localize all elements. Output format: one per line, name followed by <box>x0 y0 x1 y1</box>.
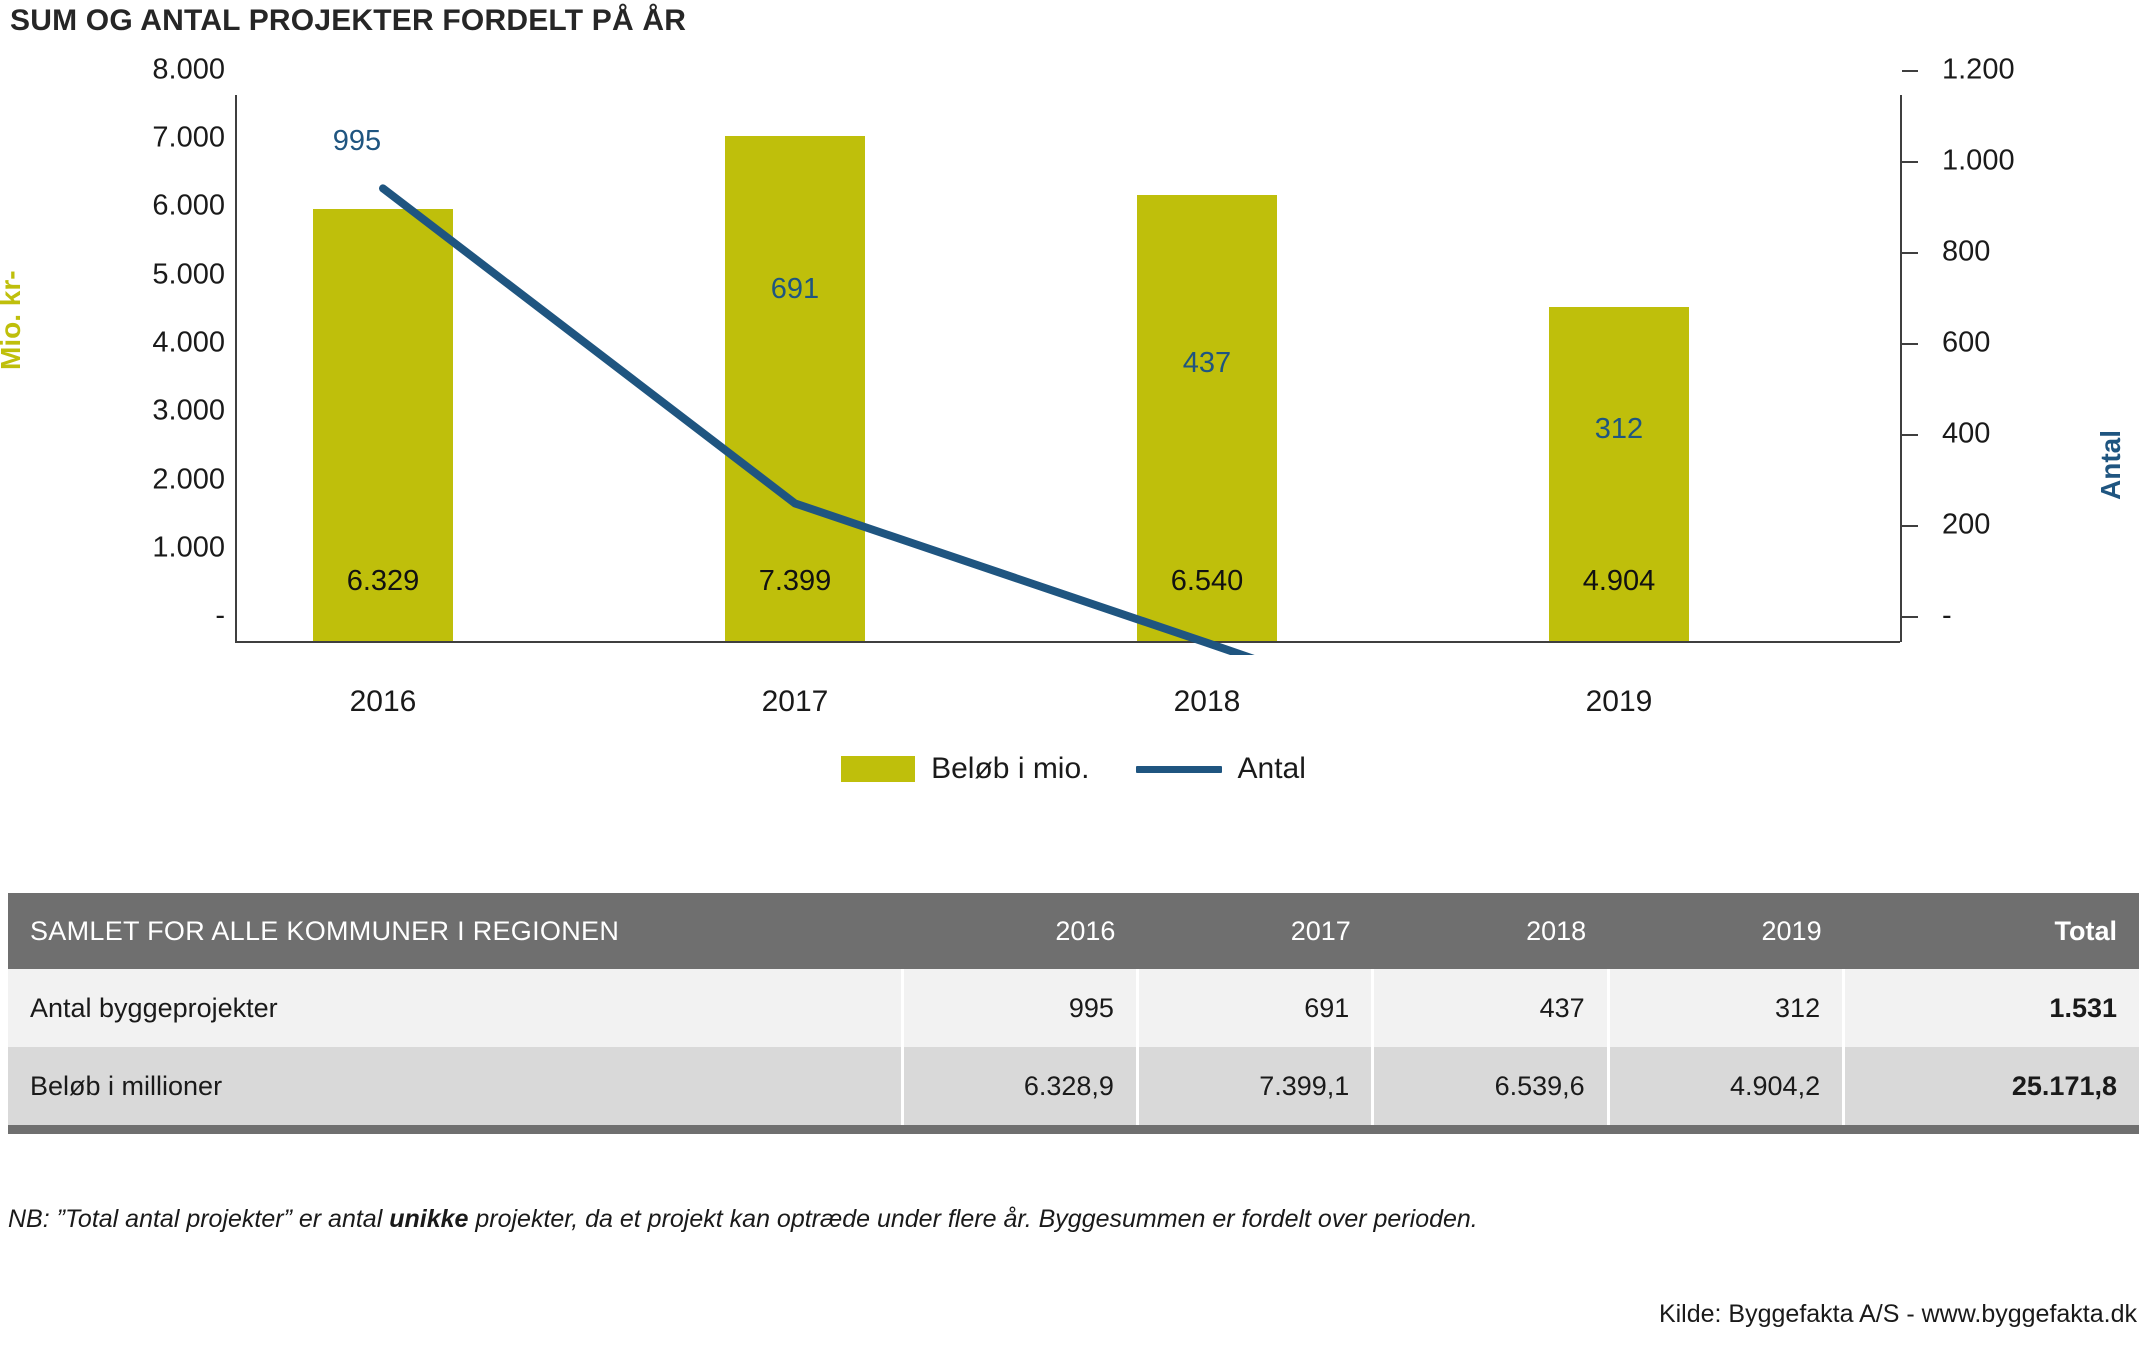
table-header-2019: 2019 <box>1608 893 1843 969</box>
table-header-2017: 2017 <box>1137 893 1372 969</box>
row-label-belob-i-millioner: Beløb i millioner <box>8 1047 902 1125</box>
cell-belob-2016: 6.328,9 <box>902 1047 1137 1125</box>
source-credit: Kilde: Byggefakta A/S - www.byggefakta.d… <box>1659 1300 2137 1329</box>
y-axis-left-label: Mio. kr- <box>0 270 27 370</box>
cell-antal-total: 1.531 <box>1844 969 2139 1047</box>
legend-label-belob: Beløb i mio. <box>931 752 1089 786</box>
page-title: SUM OG ANTAL PROJEKTER FORDELT PÅ ÅR <box>10 4 686 38</box>
legend-line-icon <box>1136 766 1222 773</box>
cell-antal-2018: 437 <box>1373 969 1608 1047</box>
cell-belob-2019: 4.904,2 <box>1608 1047 1843 1125</box>
cell-belob-2018: 6.539,6 <box>1373 1047 1608 1125</box>
y-tick-left-2000: 2.000 <box>135 464 225 497</box>
y-tick-right-400: 400 <box>1942 418 1990 451</box>
table-bottom-divider <box>8 1125 2139 1134</box>
chart-container: Mio. kr- Antal 8.000 7.000 6.000 5.000 4… <box>0 70 2147 810</box>
y-tick-left-4000: 4.000 <box>135 327 225 360</box>
cell-belob-2017: 7.399,1 <box>1137 1047 1372 1125</box>
table-header-total: Total <box>1844 893 2139 969</box>
cell-antal-2017: 691 <box>1137 969 1372 1047</box>
y-axis-left-ticks: 8.000 7.000 6.000 5.000 4.000 3.000 2.00… <box>120 70 225 617</box>
y-tick-right-200: 200 <box>1942 509 1990 542</box>
y-tick-left-8000: 8.000 <box>135 54 225 87</box>
bar-label-2018: 6.540 <box>1107 565 1307 598</box>
cell-antal-2019: 312 <box>1608 969 1843 1047</box>
x-tick-2019: 2019 <box>1519 685 1719 719</box>
cell-antal-2016: 995 <box>902 969 1137 1047</box>
table-header-row: SAMLET FOR ALLE KOMMUNER I REGIONEN 2016… <box>8 893 2139 969</box>
y-tick-right-600: 600 <box>1942 327 1990 360</box>
summary-table: SAMLET FOR ALLE KOMMUNER I REGIONEN 2016… <box>8 893 2139 1125</box>
x-tick-2017: 2017 <box>695 685 895 719</box>
row-label-antal-byggeprojekter: Antal byggeprojekter <box>8 969 902 1047</box>
legend-item-belob: Beløb i mio. <box>841 752 1089 786</box>
line-label-2018: 437 <box>1107 347 1307 380</box>
line-label-2019: 312 <box>1519 413 1719 446</box>
line-label-2016: 995 <box>257 125 457 158</box>
table-footnote: NB: ”Total antal projekter” er antal uni… <box>8 1205 1478 1234</box>
y-axis-right-ticks: 1.200 1.000 800 600 400 200 - <box>1902 70 2042 617</box>
cell-belob-total: 25.171,8 <box>1844 1047 2139 1125</box>
y-tick-right-1200: 1.200 <box>1942 54 2015 87</box>
y-axis-right-label: Antal <box>2095 430 2127 500</box>
table-header-2016: 2016 <box>902 893 1137 969</box>
line-label-2017: 691 <box>695 273 895 306</box>
plot-area: 6.329 7.399 6.540 4.904 995 691 437 312 <box>235 95 1900 640</box>
legend-label-antal: Antal <box>1238 752 1306 786</box>
y-tick-left-3000: 3.000 <box>135 395 225 428</box>
y-tick-right-zero: - <box>1942 600 1952 633</box>
footnote-emphasis: unikke <box>389 1205 468 1233</box>
bar-label-2019: 4.904 <box>1519 565 1719 598</box>
summary-table-container: SAMLET FOR ALLE KOMMUNER I REGIONEN 2016… <box>8 893 2139 1134</box>
y-tick-right-800: 800 <box>1942 236 1990 269</box>
footnote-part1: NB: ”Total antal projekter” er antal <box>8 1205 389 1233</box>
x-tick-2016: 2016 <box>283 685 483 719</box>
table-header-region: SAMLET FOR ALLE KOMMUNER I REGIONEN <box>8 893 902 969</box>
y-tick-left-zero: - <box>135 600 225 633</box>
legend-item-antal: Antal <box>1136 752 1306 786</box>
x-tick-2018: 2018 <box>1107 685 1307 719</box>
y-tick-left-7000: 7.000 <box>135 122 225 155</box>
footnote-part2: projekter, da et projekt kan optræde und… <box>468 1205 1477 1233</box>
y-tick-left-1000: 1.000 <box>135 532 225 565</box>
chart-legend: Beløb i mio. Antal <box>0 752 2147 786</box>
y-tick-left-5000: 5.000 <box>135 259 225 292</box>
y-tick-left-6000: 6.000 <box>135 190 225 223</box>
table-row: Antal byggeprojekter 995 691 437 312 1.5… <box>8 969 2139 1047</box>
table-row: Beløb i millioner 6.328,9 7.399,1 6.539,… <box>8 1047 2139 1125</box>
bar-label-2016: 6.329 <box>283 565 483 598</box>
y-tick-right-1000: 1.000 <box>1942 145 2015 178</box>
legend-swatch-icon <box>841 756 915 782</box>
table-header-2018: 2018 <box>1373 893 1608 969</box>
bar-label-2017: 7.399 <box>695 565 895 598</box>
